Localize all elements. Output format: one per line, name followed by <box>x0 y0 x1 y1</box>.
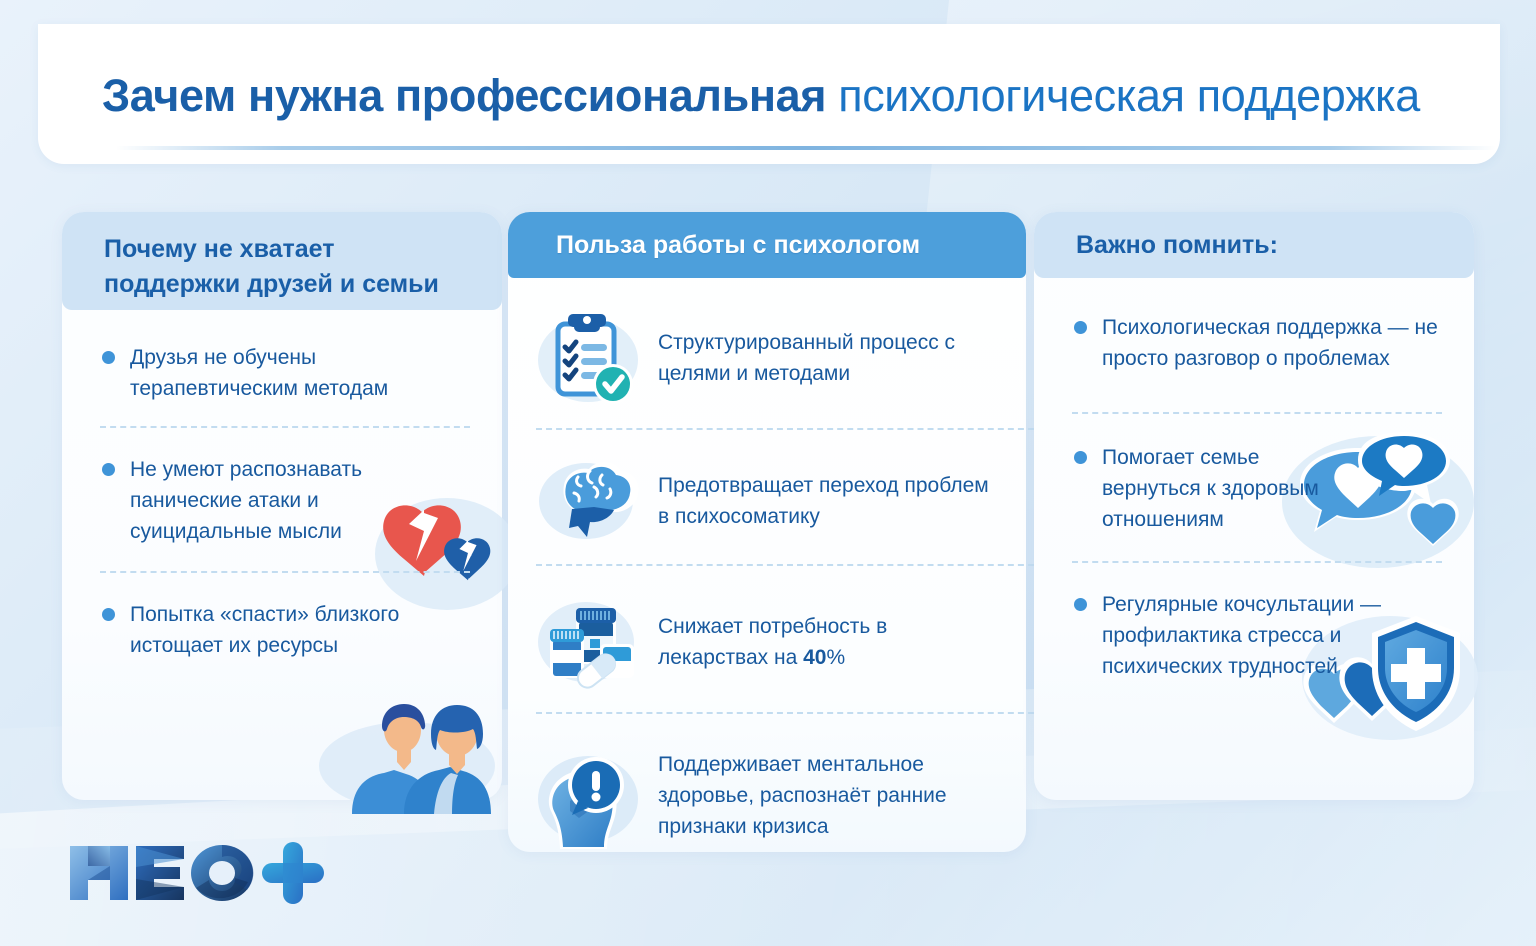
list-item-text: Попытка «спасти» близкого истощает их ре… <box>130 599 472 661</box>
logo-neo-plus <box>66 836 326 910</box>
benefit-row-mental-health: Поддерживает ментальное здоровье, распоз… <box>508 730 1026 860</box>
bullet-dot-icon <box>102 351 115 364</box>
logo-letter-e <box>136 846 184 900</box>
benefit-row-less-medication: Снижает потребность в лекарствах на 40% <box>508 582 1026 702</box>
list-item-text: Не умеют распознавать панические атаки и… <box>130 454 398 547</box>
middle-column-header: Польза работы с психологом <box>508 212 1026 278</box>
title-underline <box>116 146 1496 150</box>
panel-important-to-remember: Важно помнить: <box>1034 212 1474 800</box>
logo-plus-icon <box>262 842 324 904</box>
benefit-text: Поддерживает ментальное здоровье, распоз… <box>658 749 978 842</box>
bullet-dot-icon <box>1074 598 1087 611</box>
logo-letter-o <box>191 845 253 901</box>
head-alert-icon <box>534 745 642 845</box>
list-item-text: Помогает семье вернуться к здоровым отно… <box>1102 442 1330 535</box>
panel-why-friends-not-enough: Почему не хватает поддержки друзей и сем… <box>62 212 502 800</box>
divider <box>100 426 470 428</box>
left-header-line-2: поддержки друзей и семьи <box>104 267 476 302</box>
divider <box>1072 412 1442 414</box>
benefit-row-structured-process: Структурированный процесс с целями и мет… <box>508 298 1026 418</box>
list-item-text: Друзья не обучены терапевтическим метода… <box>130 342 472 404</box>
divider <box>100 571 470 573</box>
list-item-text: Психологическая поддержка — не просто ра… <box>1102 312 1444 374</box>
benefit-text: Снижает потребность в лекарствах на 40% <box>658 611 1002 673</box>
benefit-text-after: % <box>826 646 845 669</box>
panel-benefits-of-psychologist: Польза работы с психологом <box>508 212 1026 852</box>
left-header-line-1: Почему не хватает <box>104 232 476 267</box>
right-bullet-list: Психологическая поддержка — не просто ра… <box>1034 312 1474 682</box>
benefit-text: Предотвращает переход проблем в психосом… <box>658 470 1002 532</box>
left-column-header: Почему не хватает поддержки друзей и сем… <box>62 212 502 310</box>
divider <box>536 428 1054 430</box>
list-item: Психологическая поддержка — не просто ра… <box>1070 312 1444 374</box>
benefit-row-psychosomatics: Предотвращает переход проблем в психосом… <box>508 446 1026 556</box>
list-item: Не умеют распознавать панические атаки и… <box>98 454 472 547</box>
medicine-bottles-icon <box>534 592 642 692</box>
clipboard-checklist-icon <box>534 308 642 408</box>
right-column-header: Важно помнить: <box>1034 212 1474 278</box>
couple-illustration <box>312 694 502 814</box>
list-item: Регулярные кочсультации — профилактика с… <box>1070 589 1444 682</box>
left-bullet-list: Друзья не обучены терапевтическим метода… <box>62 342 502 661</box>
page-title-light: психологическая поддержка <box>826 70 1420 121</box>
bullet-dot-icon <box>102 608 115 621</box>
list-item-text: Регулярные кочсультации — профилактика с… <box>1102 589 1408 682</box>
logo-letter-n <box>70 846 128 900</box>
page-title-strong: Зачем нужна профессиональная <box>102 70 826 121</box>
header-card: Зачем нужна профессиональная психологиче… <box>38 24 1500 164</box>
infographic-root: Зачем нужна профессиональная психологиче… <box>0 0 1536 946</box>
brain-icon <box>534 451 642 551</box>
page-title: Зачем нужна профессиональная психологиче… <box>102 70 1442 122</box>
list-item: Попытка «спасти» близкого истощает их ре… <box>98 599 472 661</box>
bullet-dot-icon <box>1074 451 1087 464</box>
bullet-dot-icon <box>102 463 115 476</box>
bullet-dot-icon <box>1074 321 1087 334</box>
list-item: Помогает семье вернуться к здоровым отно… <box>1070 442 1444 535</box>
divider <box>536 564 1054 566</box>
divider <box>536 712 1054 714</box>
benefit-text: Структурированный процесс с целями и мет… <box>658 327 1002 389</box>
divider <box>1072 561 1442 563</box>
benefit-highlight: 40 <box>803 646 826 669</box>
list-item: Друзья не обучены терапевтическим метода… <box>98 342 472 404</box>
benefit-text-before: Снижает потребность в лекарствах на <box>658 615 887 669</box>
